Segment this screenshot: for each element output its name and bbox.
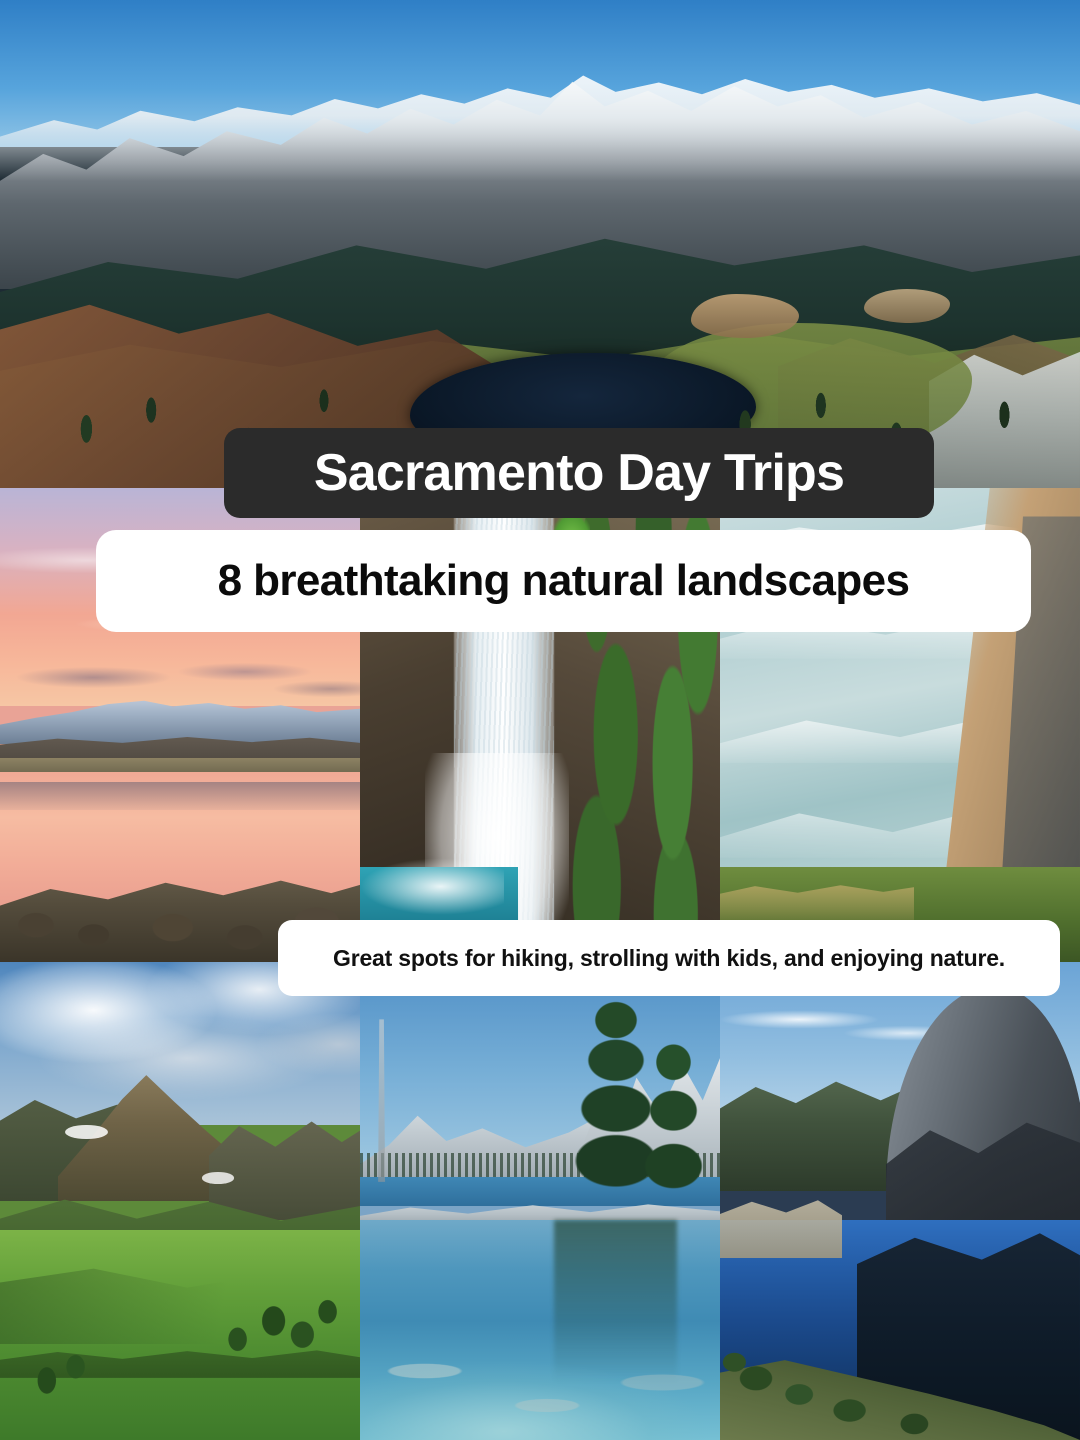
lake-pine-tree-second xyxy=(634,1038,713,1210)
meadow-snow-patch-b xyxy=(202,1172,234,1183)
meadow-conifer-layer xyxy=(0,1211,360,1440)
pin-caption-banner: Great spots for hiking, strolling with k… xyxy=(278,920,1060,996)
pin-title-banner: Sacramento Day Trips xyxy=(224,428,934,518)
pin-caption-text: Great spots for hiking, strolling with k… xyxy=(333,947,1005,970)
pin-title-text: Sacramento Day Trips xyxy=(314,447,844,499)
sunset-reflection-band xyxy=(0,782,360,810)
dome-bathtub-ring-bank xyxy=(720,1182,842,1258)
falls-pool-foam xyxy=(360,858,504,915)
alpine-lake-granite-image xyxy=(360,962,720,1440)
sunset-cloud-band xyxy=(0,649,360,706)
pin-subtitle-text: 8 breathtaking natural landscapes xyxy=(218,559,910,603)
hero-snowy-mountain-range-image xyxy=(0,0,1080,490)
pin-subtitle-banner: 8 breathtaking natural landscapes xyxy=(96,530,1031,632)
pinterest-pin-graphic: hikes Sacramento Day Trips 8 breathtakin… xyxy=(0,0,1080,1440)
green-alpine-meadow-image xyxy=(0,962,360,1440)
dome-foreground-trees xyxy=(720,1306,1080,1440)
lake-submerged-rocks xyxy=(360,1325,720,1440)
meadow-snow-patch-a xyxy=(65,1125,108,1139)
reservoir-granite-dome-image: hikes xyxy=(720,962,1080,1440)
